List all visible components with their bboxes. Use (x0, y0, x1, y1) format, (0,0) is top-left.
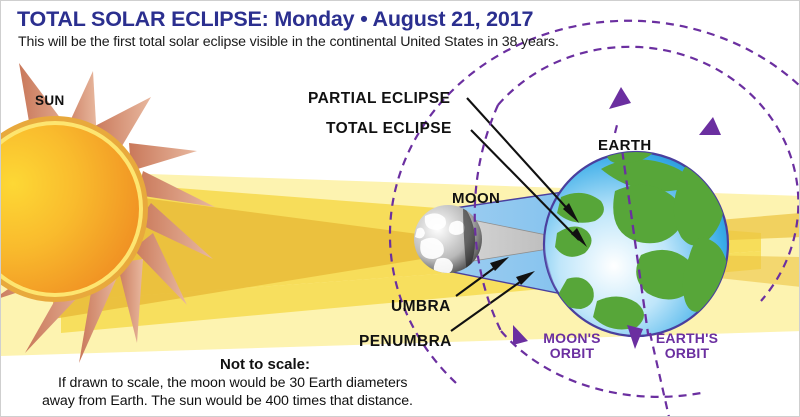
label-earths-orbit: EARTH'S ORBIT (645, 331, 729, 361)
label-moons-orbit: MOON'S ORBIT (529, 331, 615, 361)
label-earths-orbit-line2: ORBIT (645, 346, 729, 361)
label-umbra: UMBRA (391, 298, 451, 316)
footnote-line-1: If drawn to scale, the moon would be 30 … (58, 375, 407, 391)
footnote-line-2: away from Earth. The sun would be 400 ti… (42, 393, 413, 409)
infographic-canvas: TOTAL SOLAR ECLIPSE: Monday • August 21,… (0, 0, 800, 417)
label-earth: EARTH (598, 137, 652, 154)
label-moons-orbit-line1: MOON'S (529, 331, 615, 346)
footnote-heading: Not to scale: (220, 356, 310, 373)
page-subtitle: This will be the first total solar eclip… (18, 34, 559, 50)
label-moon: MOON (452, 190, 500, 207)
label-sun: SUN (35, 93, 65, 108)
label-earths-orbit-line1: EARTH'S (645, 331, 729, 346)
label-partial-eclipse: PARTIAL ECLIPSE (308, 90, 450, 108)
label-penumbra: PENUMBRA (359, 333, 452, 351)
page-title: TOTAL SOLAR ECLIPSE: Monday • August 21,… (17, 7, 533, 32)
earth-axis-top (615, 121, 618, 133)
label-moons-orbit-line2: ORBIT (529, 346, 615, 361)
label-total-eclipse: TOTAL ECLIPSE (326, 120, 452, 138)
